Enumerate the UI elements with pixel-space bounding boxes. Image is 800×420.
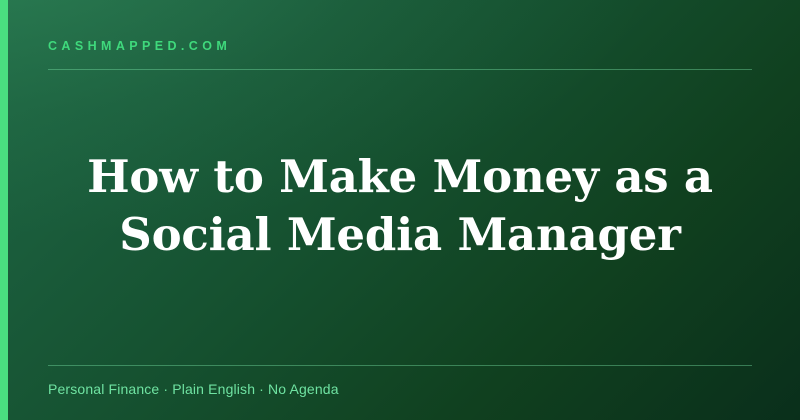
divider-bottom bbox=[48, 365, 752, 366]
footer-tagline: Personal Finance · Plain English · No Ag… bbox=[48, 381, 339, 397]
divider-top bbox=[48, 69, 752, 70]
social-share-banner: CASHMAPPED.COM How to Make Money as a So… bbox=[0, 0, 800, 420]
page-title-line-1: How to Make Money as a bbox=[48, 148, 752, 206]
banner-content: CASHMAPPED.COM How to Make Money as a So… bbox=[0, 0, 800, 420]
page-title-line-2: Social Media Manager bbox=[48, 206, 752, 264]
page-title: How to Make Money as a Social Media Mana… bbox=[48, 148, 752, 264]
brand-wordmark: CASHMAPPED.COM bbox=[48, 39, 231, 53]
